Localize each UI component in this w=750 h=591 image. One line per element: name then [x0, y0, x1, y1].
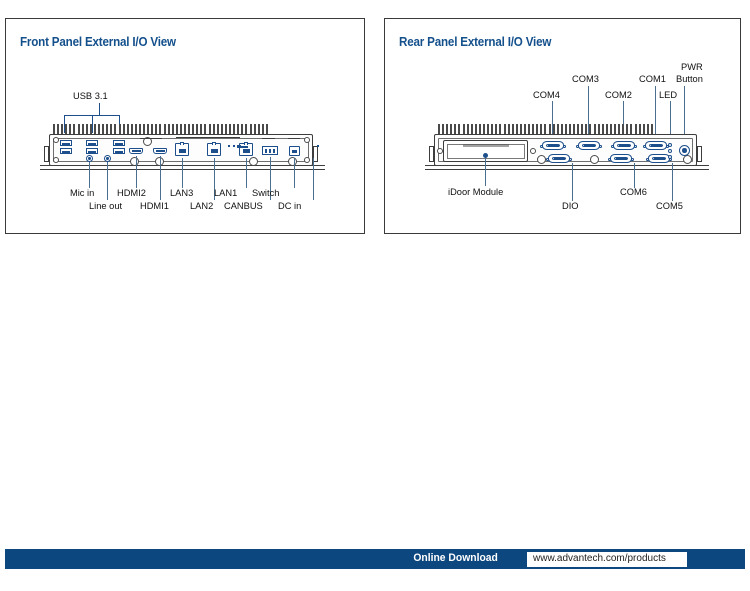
leader-lan3: [182, 158, 183, 188]
callout-canbus: CANBUS: [224, 201, 263, 211]
footer-url-text[interactable]: www.advantech.com/products: [533, 553, 666, 564]
screw-hole: [304, 137, 310, 143]
usb-2-0-port-1: [60, 148, 72, 154]
power-button: [679, 145, 690, 156]
callout-com1: COM1: [639, 74, 666, 84]
com6-port: [610, 154, 632, 163]
screw-hole: [304, 157, 310, 163]
spacer14: [317, 145, 319, 147]
callout-com6: COM6: [620, 187, 647, 197]
leader-hdmi1: [160, 156, 161, 200]
leader-com5: [672, 163, 673, 201]
leader-idoor-module: [485, 156, 486, 186]
spacer11: [246, 146, 248, 148]
mic-in-jack: [86, 155, 93, 162]
line-out-jack: [104, 155, 111, 162]
usb-3-1-port-2: [86, 140, 98, 146]
callout-led: LED: [659, 90, 677, 100]
com2-port: [613, 141, 635, 150]
footer-online-download-label: Online Download: [414, 552, 498, 564]
front-panel-title: Front Panel External I/O View: [20, 35, 176, 49]
standoff-hole: [537, 155, 546, 164]
screw-hole: [53, 157, 59, 163]
front-chassis-left-foot: [44, 146, 49, 162]
spacer13: [242, 146, 244, 148]
callout-com4: COM4: [533, 90, 560, 100]
callout-lan1: LAN1: [214, 188, 237, 198]
callout-usb-3-1: USB 3.1: [73, 91, 108, 101]
callout-lan3: LAN3: [170, 188, 193, 198]
callout-dc-in: DC in: [278, 201, 301, 211]
callout-pwr-button: Button: [676, 74, 703, 84]
spacer5: [228, 145, 230, 147]
led-indicator-3: [668, 155, 672, 159]
callout-com5: COM5: [656, 201, 683, 211]
hdmi1-port: [153, 148, 167, 154]
rear-chassis-right-foot: [697, 146, 702, 162]
spacer4: [233, 145, 235, 147]
dio-port: [548, 154, 570, 163]
usb-2-0-port-3: [113, 148, 125, 154]
leader-hdmi2: [136, 156, 137, 188]
standoff-hole: [590, 155, 599, 164]
rear-chassis-base-rail: [425, 165, 709, 170]
canbus-terminal: [262, 146, 278, 155]
screw-hole: [530, 148, 536, 154]
com5-port: [648, 154, 670, 163]
com3-port: [578, 141, 600, 150]
leader-line-out: [107, 162, 108, 200]
callout-com3: COM3: [572, 74, 599, 84]
leader-com6: [634, 163, 635, 188]
leader-mic-in: [89, 162, 90, 188]
switch-button: [289, 146, 300, 156]
screw-hole: [437, 148, 443, 154]
callout-idoor-module: iDoor Module: [448, 187, 503, 197]
callout-pwr: PWR: [681, 62, 703, 72]
callout-mic-in: Mic in: [70, 188, 94, 198]
leader-dc-in: [313, 158, 314, 200]
leader-lan1: [246, 158, 247, 188]
usb-3-1-port-3: [113, 140, 125, 146]
standoff-hole: [249, 157, 258, 166]
callout-switch: Switch: [252, 188, 279, 198]
silkscreen-mark: [140, 138, 162, 139]
leader-usb-3-1-stem: [99, 103, 100, 115]
spacer12: [237, 146, 239, 148]
rear-panel-title: Rear Panel External I/O View: [399, 35, 551, 49]
rear-chassis-left-foot: [429, 146, 434, 162]
callout-dio: DIO: [562, 201, 579, 211]
usb-2-0-port-2: [86, 148, 98, 154]
led-indicator-1: [668, 143, 672, 147]
leader-dio: [572, 163, 573, 201]
callout-com2: COM2: [605, 90, 632, 100]
com1-port: [645, 141, 667, 150]
standoff-hole: [130, 157, 139, 166]
com4-port: [542, 141, 564, 150]
standoff-hole: [288, 157, 297, 166]
silkscreen-mark: [262, 138, 275, 139]
lan2-port: [207, 143, 221, 156]
leader-switch: [294, 158, 295, 188]
screw-hole: [53, 137, 59, 143]
leader-idoor-dot: [483, 153, 488, 158]
lan3-port: [175, 143, 189, 156]
usb-3-1-port-1: [60, 140, 72, 146]
callout-line-out: Line out: [89, 201, 122, 211]
callout-hdmi2: HDMI2: [117, 188, 146, 198]
silkscreen-mark: [176, 137, 240, 138]
lan1-port: [239, 143, 253, 156]
hdmi2-port: [129, 148, 143, 154]
silkscreen-mark: [288, 138, 300, 139]
led-indicator-2: [668, 149, 672, 153]
callout-lan2: LAN2: [190, 201, 213, 211]
standoff-hole: [683, 155, 692, 164]
callout-hdmi1: HDMI1: [140, 201, 169, 211]
